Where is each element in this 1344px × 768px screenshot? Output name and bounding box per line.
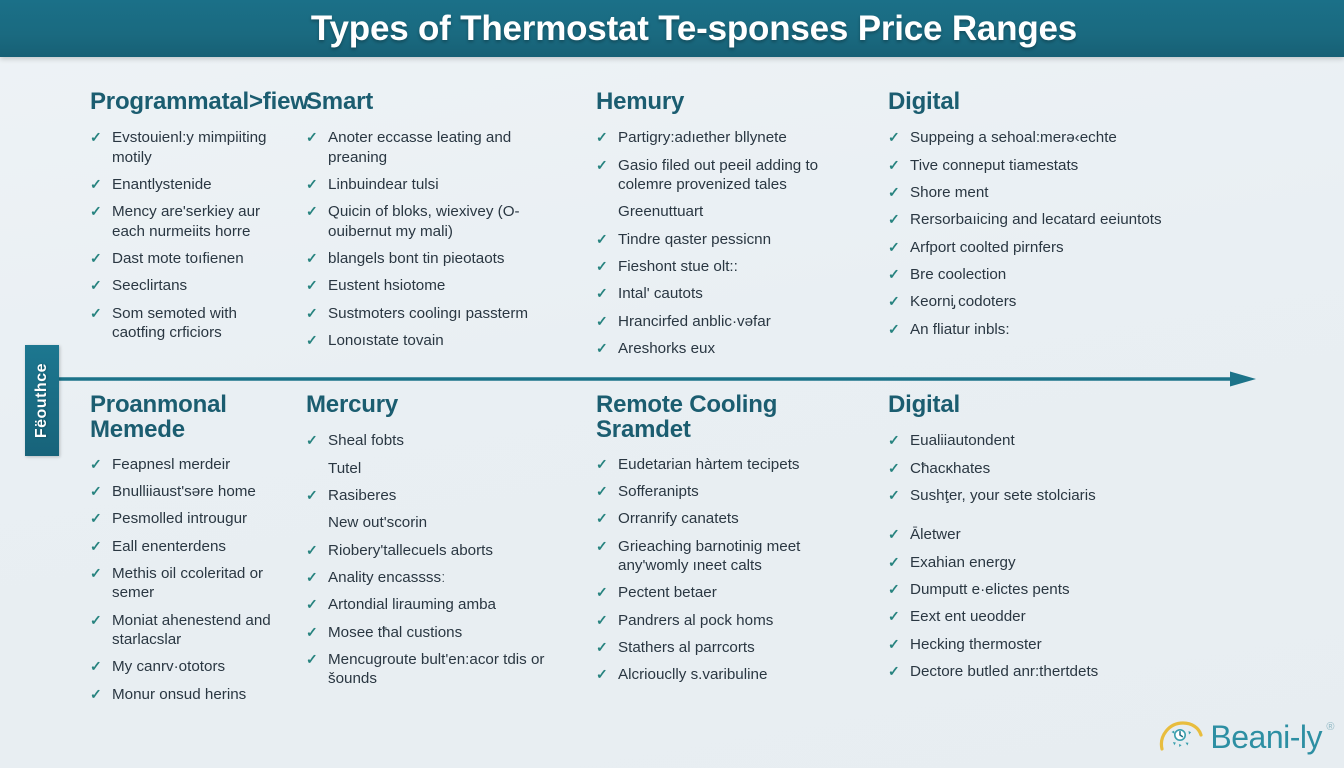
list-item-text: Suppeing a sehoal:merə‹echte — [910, 129, 1117, 146]
list-item-text: Moniat ahenestend and starlacslar — [112, 612, 271, 648]
check-icon: ✓ — [596, 665, 608, 683]
check-icon: ✓ — [888, 238, 900, 256]
list-item-text: Keorni̡ codoters — [910, 293, 1016, 310]
list-item-text: Bre coolection — [910, 266, 1006, 283]
check-icon: ✓ — [90, 509, 102, 527]
list-item: ✓Orranrify canatets — [596, 509, 854, 528]
list-item-text: Hecking thermoster — [910, 636, 1042, 653]
list-item: ✓Dast mote toıfienen — [90, 249, 272, 268]
infographic-page: Types of Thermostat Te-sponses Price Ran… — [0, 0, 1344, 768]
list-item: ✓Exahian energy — [888, 553, 1174, 572]
list-item-text: Sheal fobts — [328, 432, 404, 449]
list-item-text: Alcriouclly s.varibuline — [618, 666, 767, 683]
check-icon: ✓ — [888, 459, 900, 477]
list-item: ✓blanɡels bont tin pieotaots — [306, 249, 562, 268]
list-item: ✓Feapnesl merdeir — [90, 455, 272, 474]
brand-logo[interactable]: Beani-ly ® — [1158, 718, 1322, 756]
list-item-text: blanɡels bont tin pieotaots — [328, 250, 504, 267]
check-icon: ✓ — [306, 175, 318, 193]
list-item-text: Mency are'serkiey aur each nurmeiits hor… — [112, 203, 260, 239]
check-icon: ✓ — [888, 128, 900, 146]
check-icon: ✓ — [888, 431, 900, 449]
check-icon: ✓ — [888, 607, 900, 625]
check-icon: ✓ — [596, 583, 608, 601]
column-title: Hemury — [596, 89, 854, 114]
check-icon: ✓ — [596, 638, 608, 656]
list-item: ✓Evstouienl:y mimpiiting motily — [90, 128, 272, 167]
column-digital-top: Digital ✓Suppeing a sehoal:merə‹echte ✓T… — [872, 89, 1192, 394]
list-item: ✓Eudetarian hàrtem tecipets — [596, 455, 854, 474]
check-icon: ✓ — [888, 292, 900, 310]
list-item-text: Hrancirfed anblic·vəfar — [618, 313, 771, 330]
list-item: ✓Pectent betaer — [596, 583, 854, 602]
list-item-text: Sustmoters coolingı passterm — [328, 305, 528, 322]
list-item-text: Sushţer, your setе stolciaris — [910, 487, 1096, 504]
list-item-text: Orranrify canatets — [618, 510, 739, 527]
list-item: ✓Pesmolled introugur — [90, 509, 272, 528]
list-item: ✓Stathers al parrcorts — [596, 638, 854, 657]
row-bottom: Proanmonal Memede ✓Feapnesl merdeir ✓Bnu… — [0, 392, 1344, 768]
column-remote-cooling-sramdet: Remote Cooling Sramdet ✓Eudetarian hàrte… — [580, 392, 872, 768]
list-item: ✓Moniat ahenestend and starlacslar — [90, 611, 272, 650]
list-item-text: Exahian energy — [910, 554, 1016, 571]
check-icon: ✓ — [596, 509, 608, 527]
list-item: ✓Bre coolection — [888, 265, 1174, 284]
list-item-text: Monur onsud herins — [112, 686, 246, 703]
list-item: ✓Enantlystenide — [90, 175, 272, 194]
list-item: ✓Intal' cautots — [596, 284, 854, 303]
check-icon: ✓ — [306, 249, 318, 267]
column-title: Smart — [306, 89, 562, 114]
list-item: ✓Sofferanipts — [596, 482, 854, 501]
row-top: Programmatal>fiew ✓Evstouienl:y mimpiiti… — [0, 89, 1344, 394]
beanily-swoosh-icon — [1158, 718, 1204, 756]
list-item-text: Mencugroute bult'en:acor tdis or šounds — [328, 651, 545, 687]
list-item-text: Tutel — [328, 460, 361, 477]
list-item-text: Arfport coolted pirnfers — [910, 239, 1064, 256]
list-item-text: Som semoted with caotfing crficiors — [112, 305, 237, 341]
check-icon: ✓ — [888, 156, 900, 174]
list-item: ✓Mency are'serkiey aur each nurmeiits ho… — [90, 202, 272, 241]
list-item: ✓Eualiiautondent — [888, 431, 1174, 450]
column-mercury: Mercury ✓Sheal fobts ✓Tutel ✓Rasiberes ✓… — [290, 392, 580, 768]
check-icon: ✓ — [596, 128, 608, 146]
check-icon: ✓ — [888, 580, 900, 598]
check-icon: ✓ — [90, 564, 102, 582]
column-hemury: Hemury ✓Partigry:adıether bllynete ✓Gasi… — [580, 89, 872, 394]
list-item-text: Gasio filed out peeil adding to colemre … — [618, 157, 818, 193]
list-item-text: Eall enenterdens — [112, 538, 226, 555]
list-item-text: Areshorks eux — [618, 340, 715, 357]
list-item: ✓An fliatur inbls: — [888, 320, 1174, 339]
check-icon: ✓ — [596, 156, 608, 174]
check-icon: ✓ — [596, 537, 608, 555]
check-icon: ✓ — [306, 128, 318, 146]
list-item: ✓Dectore butled anr:thertdets — [888, 662, 1174, 681]
list-item-text: Pectent betaer — [618, 584, 717, 601]
check-icon: ✓ — [90, 611, 102, 629]
check-icon: ✓ — [306, 568, 318, 586]
list-item: ✓Shore ment — [888, 183, 1174, 202]
list-item-text: Seeclirtans — [112, 277, 187, 294]
check-icon: ✓ — [888, 265, 900, 283]
list-item-text: Linbuindear tulsi — [328, 176, 439, 193]
list-item: ✓Rasiberes — [306, 486, 562, 505]
column-item-list: ✓Suppeing a sehoal:merə‹echte ✓Tive conn… — [888, 128, 1174, 338]
list-item-text: Stathers al parrcorts — [618, 639, 755, 656]
list-item-text: Eext ent ueodder — [910, 608, 1026, 625]
list-item-text: Methis oil ccoleritad or semer — [112, 565, 263, 601]
list-item-text: Grieaching barnotinig meet any'womly ıne… — [618, 538, 800, 574]
list-item: ✓Alcriouclly s.varibuline — [596, 665, 854, 684]
column-item-list: ✓Feapnesl merdeir ✓Bnulliiaust'səre home… — [90, 455, 272, 704]
list-item: ✓Eall enenterdens — [90, 537, 272, 556]
list-item: ✓Quicin of bloks, wiexivey (O-ouibernut … — [306, 202, 562, 241]
list-item-text: Mosee tħal custions — [328, 624, 462, 641]
check-icon: ✓ — [306, 650, 318, 668]
check-icon: ✓ — [90, 685, 102, 703]
check-icon: ✓ — [306, 623, 318, 641]
list-item: ✓Cħacĸhates — [888, 459, 1174, 478]
column-item-list: ✓Eualiiautondent ✓Cħacĸhates ✓Sushţer, y… — [888, 431, 1174, 681]
list-item: ✓Linbuindear tulsi — [306, 175, 562, 194]
check-icon: ✓ — [306, 202, 318, 220]
column-title: Mercury — [306, 392, 562, 417]
list-item-text: Shore ment — [910, 184, 989, 201]
list-item: ✓Greenuttuart — [596, 202, 854, 221]
check-icon: ✓ — [888, 635, 900, 653]
list-item-text: Partigry:adıether bllynete — [618, 129, 787, 146]
list-item: ✓Hecking thermoster — [888, 635, 1174, 654]
columns-grid: Programmatal>fiew ✓Evstouienl:y mimpiiti… — [0, 57, 1344, 768]
list-item: ✓Eustent hsiotome — [306, 276, 562, 295]
list-item: ✓Sheal fobts — [306, 431, 562, 450]
list-item-text: Dast mote toıfienen — [112, 250, 244, 267]
list-item-text: Eustent hsiotome — [328, 277, 445, 294]
list-item-text: Feapnesl merdeir — [112, 456, 230, 473]
list-item: ✓Bnulliiaust'səre home — [90, 482, 272, 501]
column-item-list: ✓Evstouienl:y mimpiiting motily ✓Enantly… — [90, 128, 272, 342]
list-item-text: Anality encassssː — [328, 569, 445, 586]
list-item-text: My canrv·ototors — [112, 658, 225, 675]
list-item: ✓Areshorks eux — [596, 339, 854, 358]
check-icon: ✓ — [596, 284, 608, 302]
check-icon: ✓ — [596, 339, 608, 357]
check-icon: ✓ — [596, 455, 608, 473]
list-item: ✓Suppeing a sehoal:merə‹echte — [888, 128, 1174, 147]
list-item: ✓Fieshont stue olt:: — [596, 257, 854, 276]
list-item-text: Anoter eccasse leating and preaning — [328, 129, 511, 165]
check-icon: ✓ — [596, 312, 608, 330]
list-item: ✓Som semoted with caotfing crficiors — [90, 304, 272, 343]
check-icon: ✓ — [306, 541, 318, 559]
list-item: ✓Grieaching barnotinig meet any'womly ın… — [596, 537, 854, 576]
column-title: Remote Cooling Sramdet — [596, 392, 854, 443]
column-digital-bottom: Digital ✓Eualiiautondent ✓Cħacĸhates ✓Su… — [872, 392, 1192, 768]
column-item-list: ✓Anoter eccasse leating and preaning ✓Li… — [306, 128, 562, 350]
check-icon: ✓ — [90, 455, 102, 473]
side-tab[interactable]: Fëouthce — [25, 345, 59, 456]
list-item: ✓Arfport coolted pirnfers — [888, 238, 1174, 257]
list-item-text: Rersorbaıicing and lecatard eeiuntots — [910, 211, 1162, 228]
check-icon: ✓ — [888, 662, 900, 680]
list-item-text: Greenuttuart — [618, 203, 703, 220]
check-icon: ✓ — [90, 175, 102, 193]
list-item: ✓Mencugroute bult'en:acor tdis or šounds — [306, 650, 562, 689]
list-item: ✓Mosee tħal custions — [306, 623, 562, 642]
check-icon: ✓ — [306, 304, 318, 322]
list-item: ✓My canrv·ototors — [90, 657, 272, 676]
list-item-text: Eualiiautondent — [910, 432, 1015, 449]
check-icon: ✓ — [306, 431, 318, 449]
check-icon: ✓ — [596, 230, 608, 248]
list-item: ✓Methis oil ccoleritad or semer — [90, 564, 272, 603]
timeline-arrow — [58, 370, 1256, 388]
check-icon: ✓ — [306, 595, 318, 613]
list-item-text: Intal' cautots — [618, 285, 703, 302]
check-icon: ✓ — [90, 657, 102, 675]
list-item: ✓Tive conneput tiamestats — [888, 156, 1174, 175]
column-title: Digital — [888, 89, 1174, 114]
list-item: ✓Sushţer, your setе stolciaris — [888, 486, 1174, 505]
page-title: Types of Thermostat Te-sponses Price Ran… — [311, 9, 1077, 49]
list-item-text: Dumputt e·elictes pents — [910, 581, 1070, 598]
list-item: ✓Seeclirtans — [90, 276, 272, 295]
check-icon: ✓ — [888, 525, 900, 543]
list-item-text: Riobery'talleсuels aborts — [328, 542, 493, 559]
list-item-text: Dectore butled anr:thertdets — [910, 663, 1098, 680]
list-item: ✓Partigry:adıether bllynete — [596, 128, 854, 147]
list-item-text: Artondial lirauming amba — [328, 596, 496, 613]
list-item-text: An fliatur inbls: — [910, 321, 1010, 338]
check-icon: ✓ — [888, 320, 900, 338]
list-item-text: Āletwer — [910, 526, 961, 543]
list-item-text: Rasiberes — [328, 487, 396, 504]
list-item-text: New out'scorin — [328, 514, 427, 531]
check-icon: ✓ — [596, 611, 608, 629]
check-icon: ✓ — [596, 257, 608, 275]
list-item: ✓Keorni̡ codoters — [888, 292, 1174, 311]
list-item-text: Evstouienl:y mimpiiting motily — [112, 129, 266, 165]
list-item-text: Pesmolled introugur — [112, 510, 247, 527]
registered-mark: ® — [1326, 721, 1334, 733]
list-item: ✓New out'scorin — [306, 513, 562, 532]
check-icon: ✓ — [90, 482, 102, 500]
check-icon: ✓ — [90, 128, 102, 146]
check-icon: ✓ — [306, 486, 318, 504]
list-item: ✓Monur onsud herins — [90, 685, 272, 704]
list-item: ✓Eext ent ueodder — [888, 607, 1174, 626]
list-item-text: Cħacĸhates — [910, 460, 990, 477]
column-title: Programmatal>fiew — [90, 89, 272, 114]
header-bar: Types of Thermostat Te-sponses Price Ran… — [0, 0, 1344, 57]
check-icon: ✓ — [888, 210, 900, 228]
check-icon: ✓ — [306, 331, 318, 349]
column-item-list: ✓Eudetarian hàrtem tecipets ✓Sofferanipt… — [596, 455, 854, 685]
list-item-text: Tive conneput tiamestats — [910, 157, 1078, 174]
list-item: ✓Sustmoters coolingı passterm — [306, 304, 562, 323]
list-item: ✓Gasio filed out peeil adding to colemre… — [596, 156, 854, 195]
check-icon: ✓ — [888, 183, 900, 201]
list-item-text: Quicin of bloks, wiexivey (O-ouibernut m… — [328, 203, 520, 239]
logo-wordmark: Beani-ly — [1210, 719, 1322, 755]
side-tab-label: Fëouthce — [33, 363, 51, 438]
list-item-text: Pandrers al pock homs — [618, 612, 773, 629]
check-icon: ✓ — [306, 276, 318, 294]
check-icon: ✓ — [888, 553, 900, 571]
check-icon: ✓ — [90, 276, 102, 294]
check-icon: ✓ — [596, 482, 608, 500]
list-item: ✓Tindre qaster pessicnn — [596, 230, 854, 249]
list-item: ✓Lonoıstate toᴠain — [306, 331, 562, 350]
list-item: ✓Tutel — [306, 459, 562, 478]
check-icon: ✓ — [90, 304, 102, 322]
list-item-text: Enantlystenide — [112, 176, 212, 193]
column-item-list: ✓Sheal fobts ✓Tutel ✓Rasiberes ✓New out'… — [306, 431, 562, 688]
list-item: ✓Riobery'talleсuels aborts — [306, 541, 562, 560]
check-icon: ✓ — [90, 202, 102, 220]
list-item-text: Eudetarian hàrtem tecipets — [618, 456, 800, 473]
list-item-text: Sofferanipts — [618, 483, 699, 500]
list-item: ✓Rersorbaıicing and lecatard eeiuntots — [888, 210, 1174, 229]
column-item-list: ✓Partigry:adıether bllynete ✓Gasio filed… — [596, 128, 854, 358]
list-item: ✓Anality encassssː — [306, 568, 562, 587]
check-icon: ✓ — [90, 249, 102, 267]
list-item: ✓Artondial lirauming amba — [306, 595, 562, 614]
column-smart: Smart ✓Anoter eccasse leating and preani… — [290, 89, 580, 394]
list-item-text: Tindre qaster pessicnn — [618, 231, 771, 248]
check-icon: ✓ — [888, 486, 900, 504]
list-item: ✓Hrancirfed anblic·vəfar — [596, 312, 854, 331]
list-item-text: Fieshont stue olt:: — [618, 258, 738, 275]
column-title: Proanmonal Memede — [90, 392, 272, 443]
list-item-text: Lonoıstate toᴠain — [328, 332, 444, 349]
list-item: ✓Dumputt e·elictes pents — [888, 580, 1174, 599]
list-item-text: Bnulliiaust'səre home — [112, 483, 256, 500]
list-item: ✓Anoter eccasse leating and preaning — [306, 128, 562, 167]
check-icon: ✓ — [90, 537, 102, 555]
list-item: ✓Āletwer — [888, 525, 1174, 544]
logo-text: Beani-ly ® — [1210, 719, 1322, 756]
column-title: Digital — [888, 392, 1174, 417]
list-item: ✓Pandrers al pock homs — [596, 611, 854, 630]
